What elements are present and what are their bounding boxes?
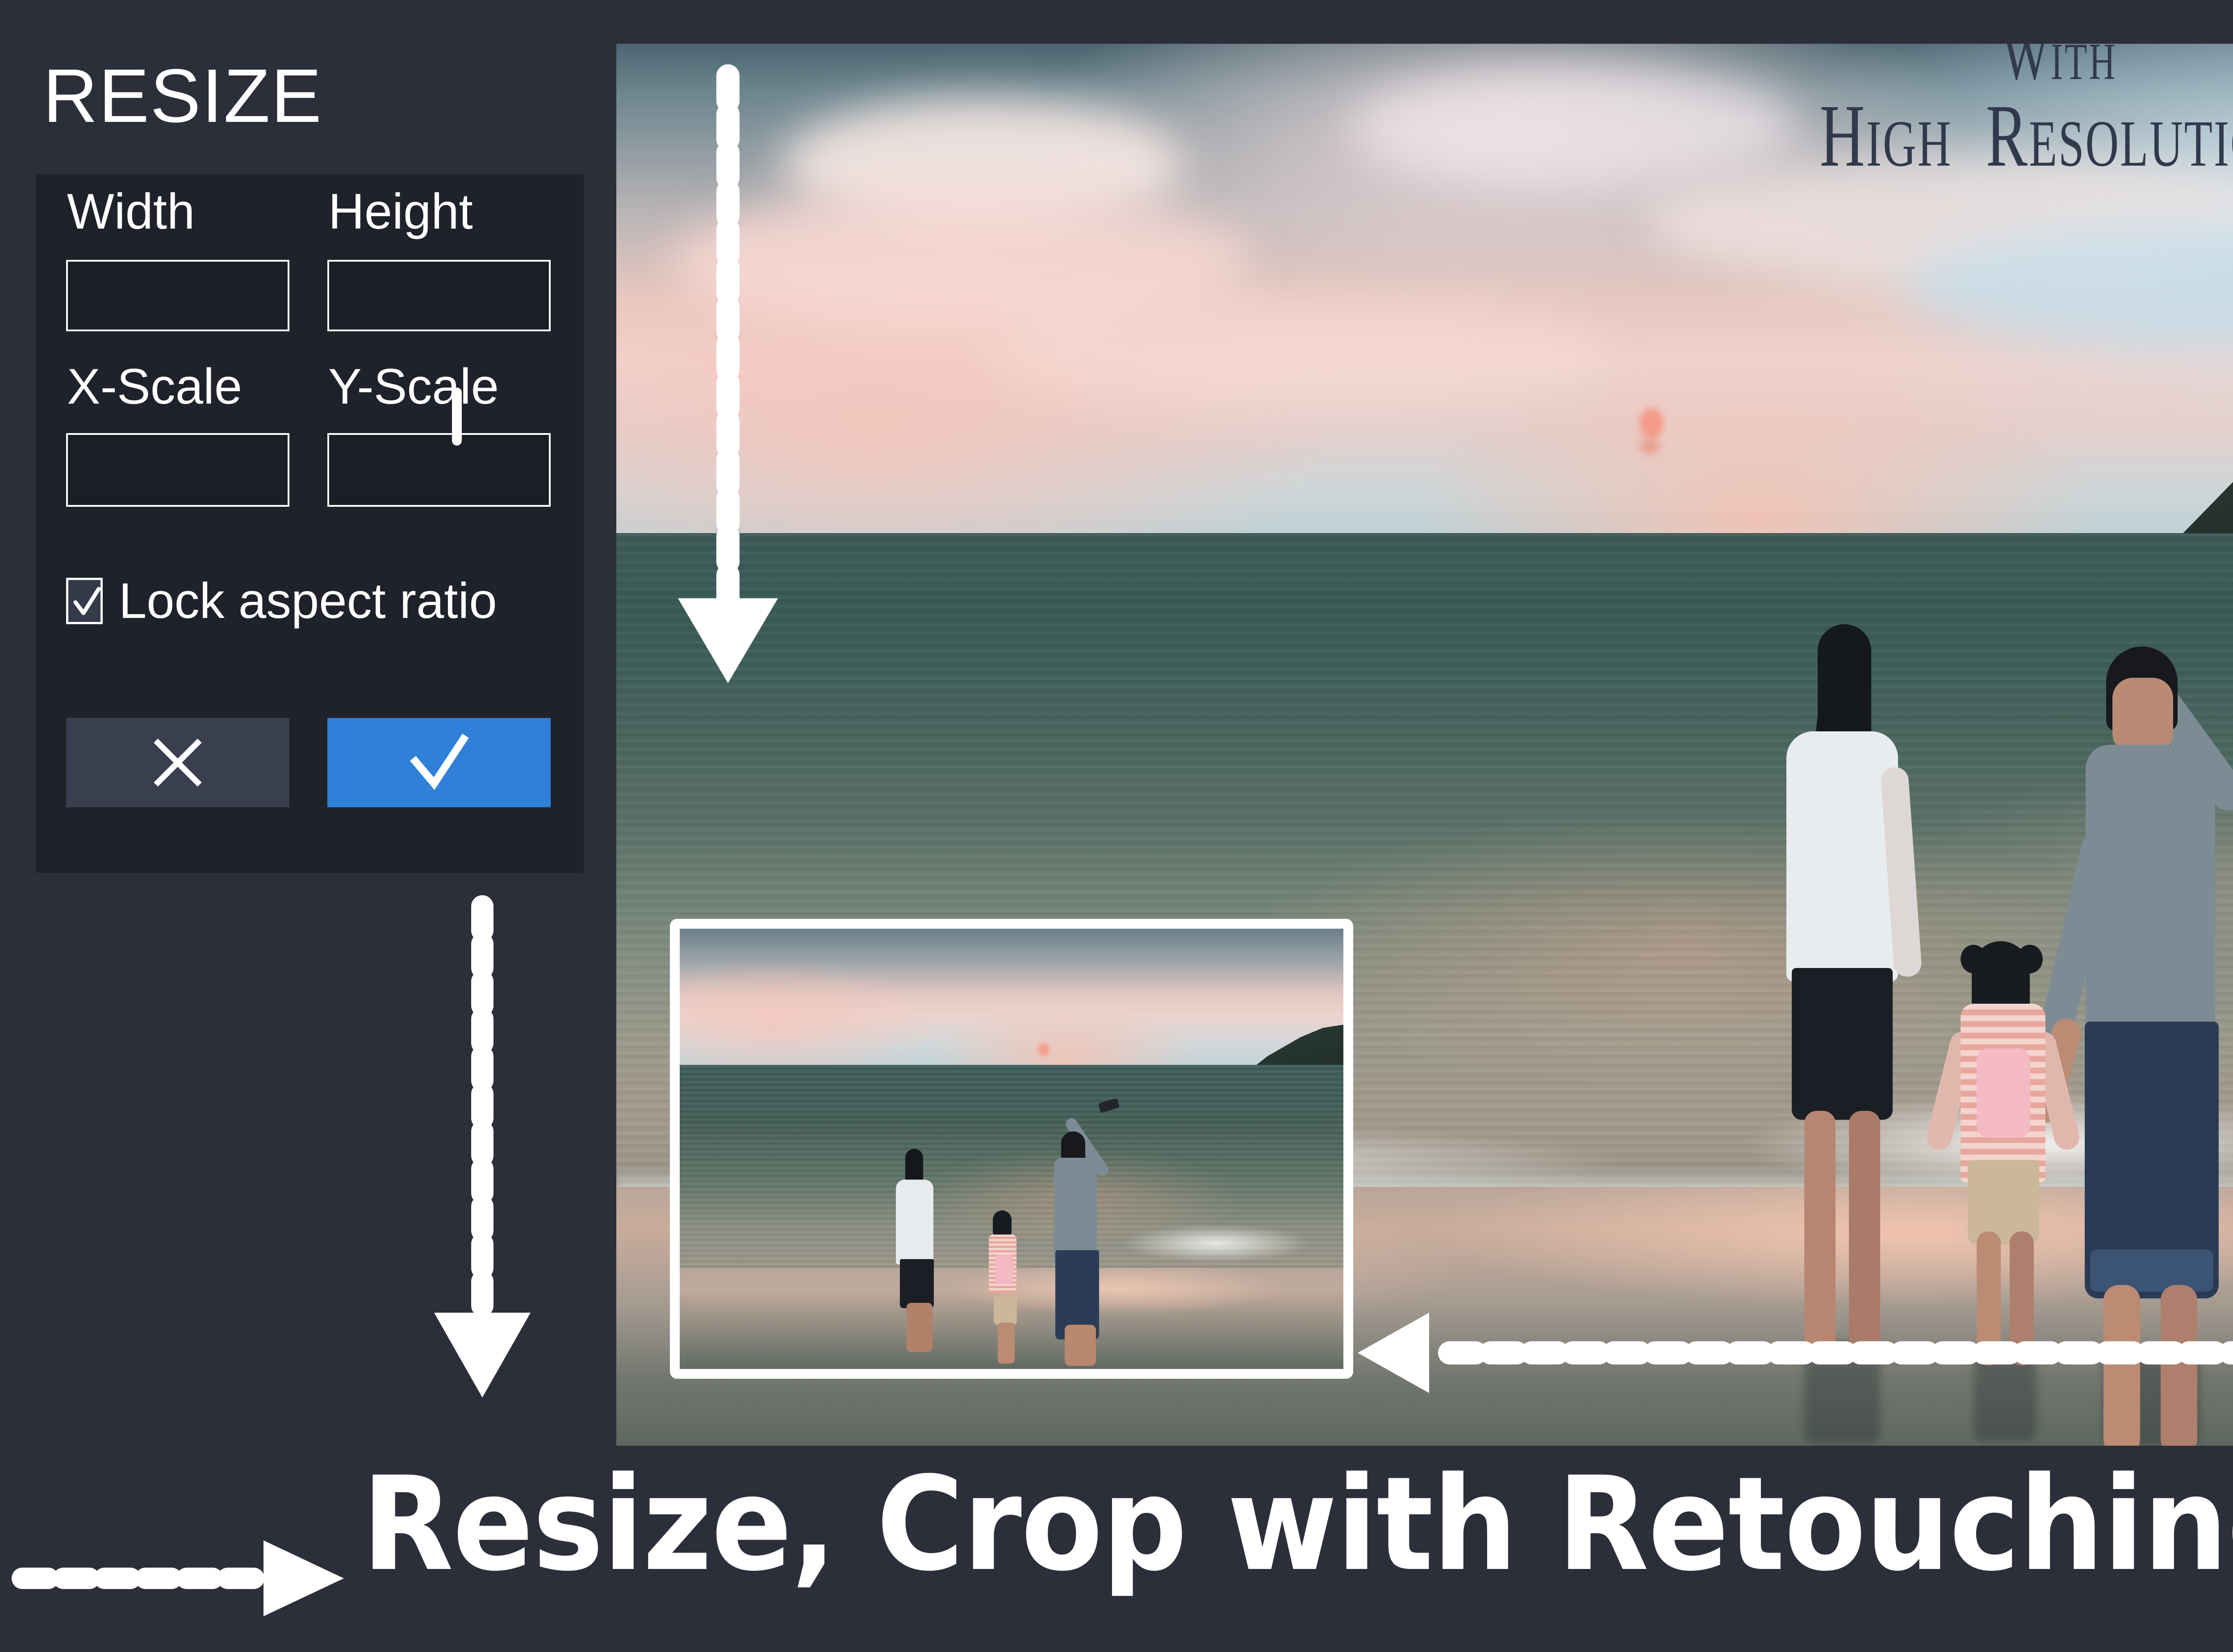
person-mother: [1786, 731, 1898, 981]
thumb-person-mother: [900, 1259, 934, 1308]
thumb-surf: [1091, 1214, 1341, 1272]
arrow-left-icon: [1349, 1308, 2233, 1398]
check-icon: [72, 584, 101, 622]
thumb-person-father: [1065, 1325, 1096, 1366]
panel-title: RESIZE: [43, 58, 322, 134]
height-label: Height: [328, 187, 473, 237]
thumb-person-mother: [907, 1303, 933, 1352]
arrow-down-icon: [424, 897, 540, 1411]
person-father: [2090, 1249, 2213, 1292]
thumb-person-mother: [896, 1180, 933, 1264]
cancel-button[interactable]: [66, 718, 289, 807]
close-x-icon: [144, 729, 211, 796]
caption-text: Resize, Crop with Retouching: [362, 1460, 2233, 1589]
lock-aspect-ratio-label: Lock aspect ratio: [119, 575, 497, 626]
x-scale-input[interactable]: [66, 433, 289, 507]
thumb-person-child: [994, 1296, 1017, 1325]
text-cursor-icon: [452, 388, 462, 446]
width-label: Width: [67, 187, 195, 237]
check-icon: [401, 729, 477, 796]
thumb-person-child: [998, 1322, 1015, 1364]
cloud: [984, 294, 1610, 410]
sun-reflection: [1639, 439, 1660, 454]
height-input[interactable]: [327, 260, 551, 331]
thumb-sky: [680, 929, 1343, 1067]
y-scale-input[interactable]: [327, 433, 551, 507]
thumb-person-father: [1054, 1158, 1097, 1263]
arrow-right-icon: [13, 1536, 362, 1621]
resize-panel: RESIZE Width Height X-Scale Y-Scale Lock…: [0, 0, 594, 875]
person-mother: [1792, 968, 1893, 1120]
x-scale-label: X-Scale: [67, 362, 242, 412]
thumb-person-father: [1061, 1131, 1085, 1160]
cloud: [1352, 71, 1799, 187]
arrow-down-icon: [670, 67, 786, 692]
person-child: [1968, 1160, 2039, 1245]
y-scale-label: Y-Scale: [328, 362, 499, 412]
width-input[interactable]: [66, 260, 289, 331]
thumb-backpack: [995, 1255, 1013, 1284]
sun: [1639, 408, 1664, 439]
backpack: [1977, 1048, 2030, 1138]
lock-aspect-ratio-checkbox[interactable]: [66, 578, 103, 624]
confirm-button[interactable]: [327, 718, 551, 807]
person-father: [2086, 745, 2215, 1057]
thumb-person-child: [993, 1210, 1012, 1235]
person-father: [2112, 678, 2173, 754]
cropped-thumbnail-frame[interactable]: [670, 919, 1353, 1379]
cropped-thumbnail-photo: [680, 929, 1343, 1369]
